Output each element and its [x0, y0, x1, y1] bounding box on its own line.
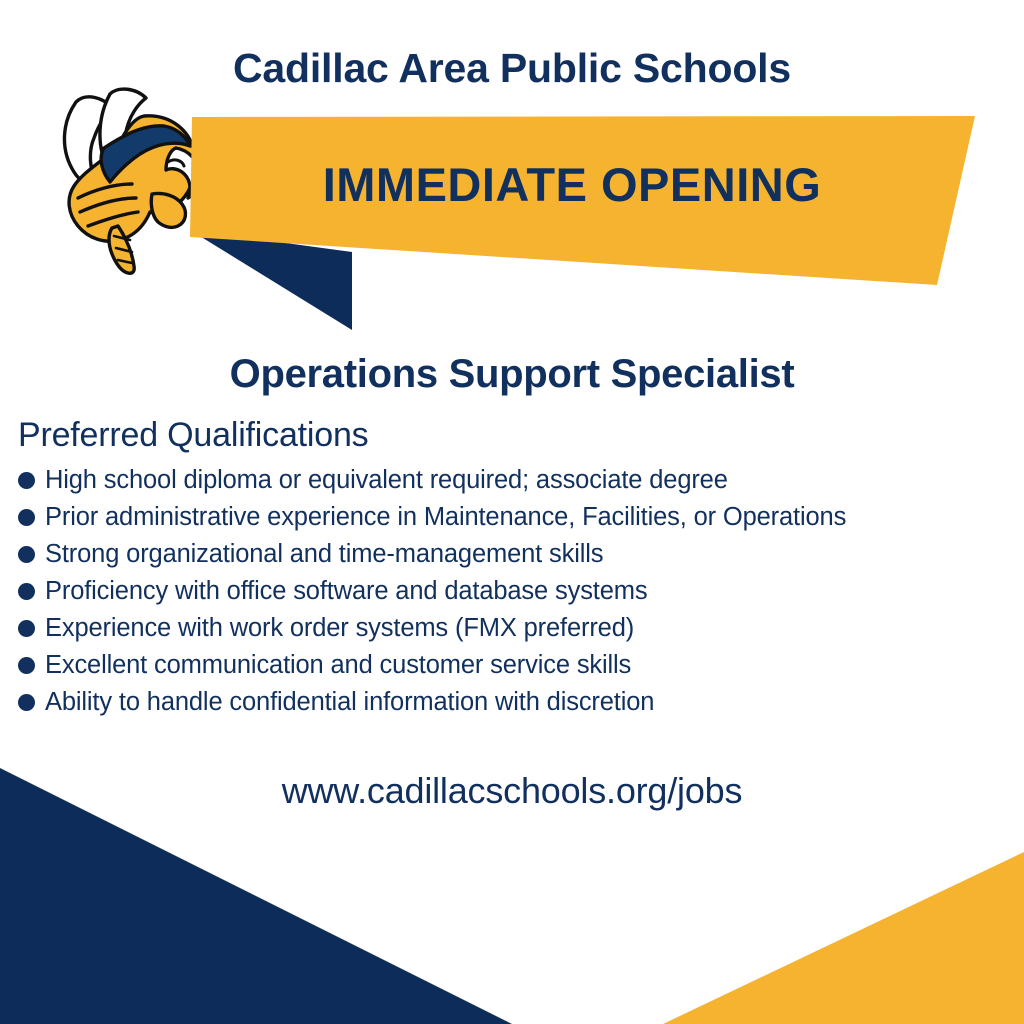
qualification-text: Strong organizational and time-managemen… [45, 536, 603, 573]
application-url: www.cadillacschools.org/jobs [0, 770, 1024, 812]
job-posting-flyer: Cadillac Area Public Schools [0, 0, 1024, 1024]
qualification-item: Prior administrative experience in Maint… [18, 499, 1013, 536]
qualification-text: Excellent communication and customer ser… [45, 647, 631, 684]
qualification-item: High school diploma or equivalent requir… [18, 462, 1013, 499]
bullet-dot-icon [18, 583, 35, 600]
bullet-dot-icon [18, 546, 35, 563]
qualification-item: Experience with work order systems (FMX … [18, 610, 1013, 647]
bullet-dot-icon [18, 620, 35, 637]
gold-corner-triangle [663, 852, 1024, 1024]
immediate-opening-banner [180, 110, 990, 335]
qualifications-list: High school diploma or equivalent requir… [18, 462, 1013, 721]
bullet-dot-icon [18, 509, 35, 526]
district-name: Cadillac Area Public Schools [0, 46, 1024, 91]
bullet-dot-icon [18, 694, 35, 711]
qualification-text: Experience with work order systems (FMX … [45, 610, 634, 647]
qualifications-heading: Preferred Qualifications [18, 416, 368, 455]
bullet-dot-icon [18, 657, 35, 674]
qualification-text: Proficiency with office software and dat… [45, 573, 647, 610]
banner-label: IMMEDIATE OPENING [192, 157, 952, 212]
qualification-text: Ability to handle confidential informati… [45, 684, 654, 721]
qualification-item: Ability to handle confidential informati… [18, 684, 1013, 721]
qualification-text: High school diploma or equivalent requir… [45, 462, 728, 499]
qualification-item: Excellent communication and customer ser… [18, 647, 1013, 684]
bullet-dot-icon [18, 472, 35, 489]
qualification-item: Strong organizational and time-managemen… [18, 536, 1013, 573]
qualification-item: Proficiency with office software and dat… [18, 573, 1013, 610]
job-title: Operations Support Specialist [0, 352, 1024, 397]
qualification-text: Prior administrative experience in Maint… [45, 499, 846, 536]
